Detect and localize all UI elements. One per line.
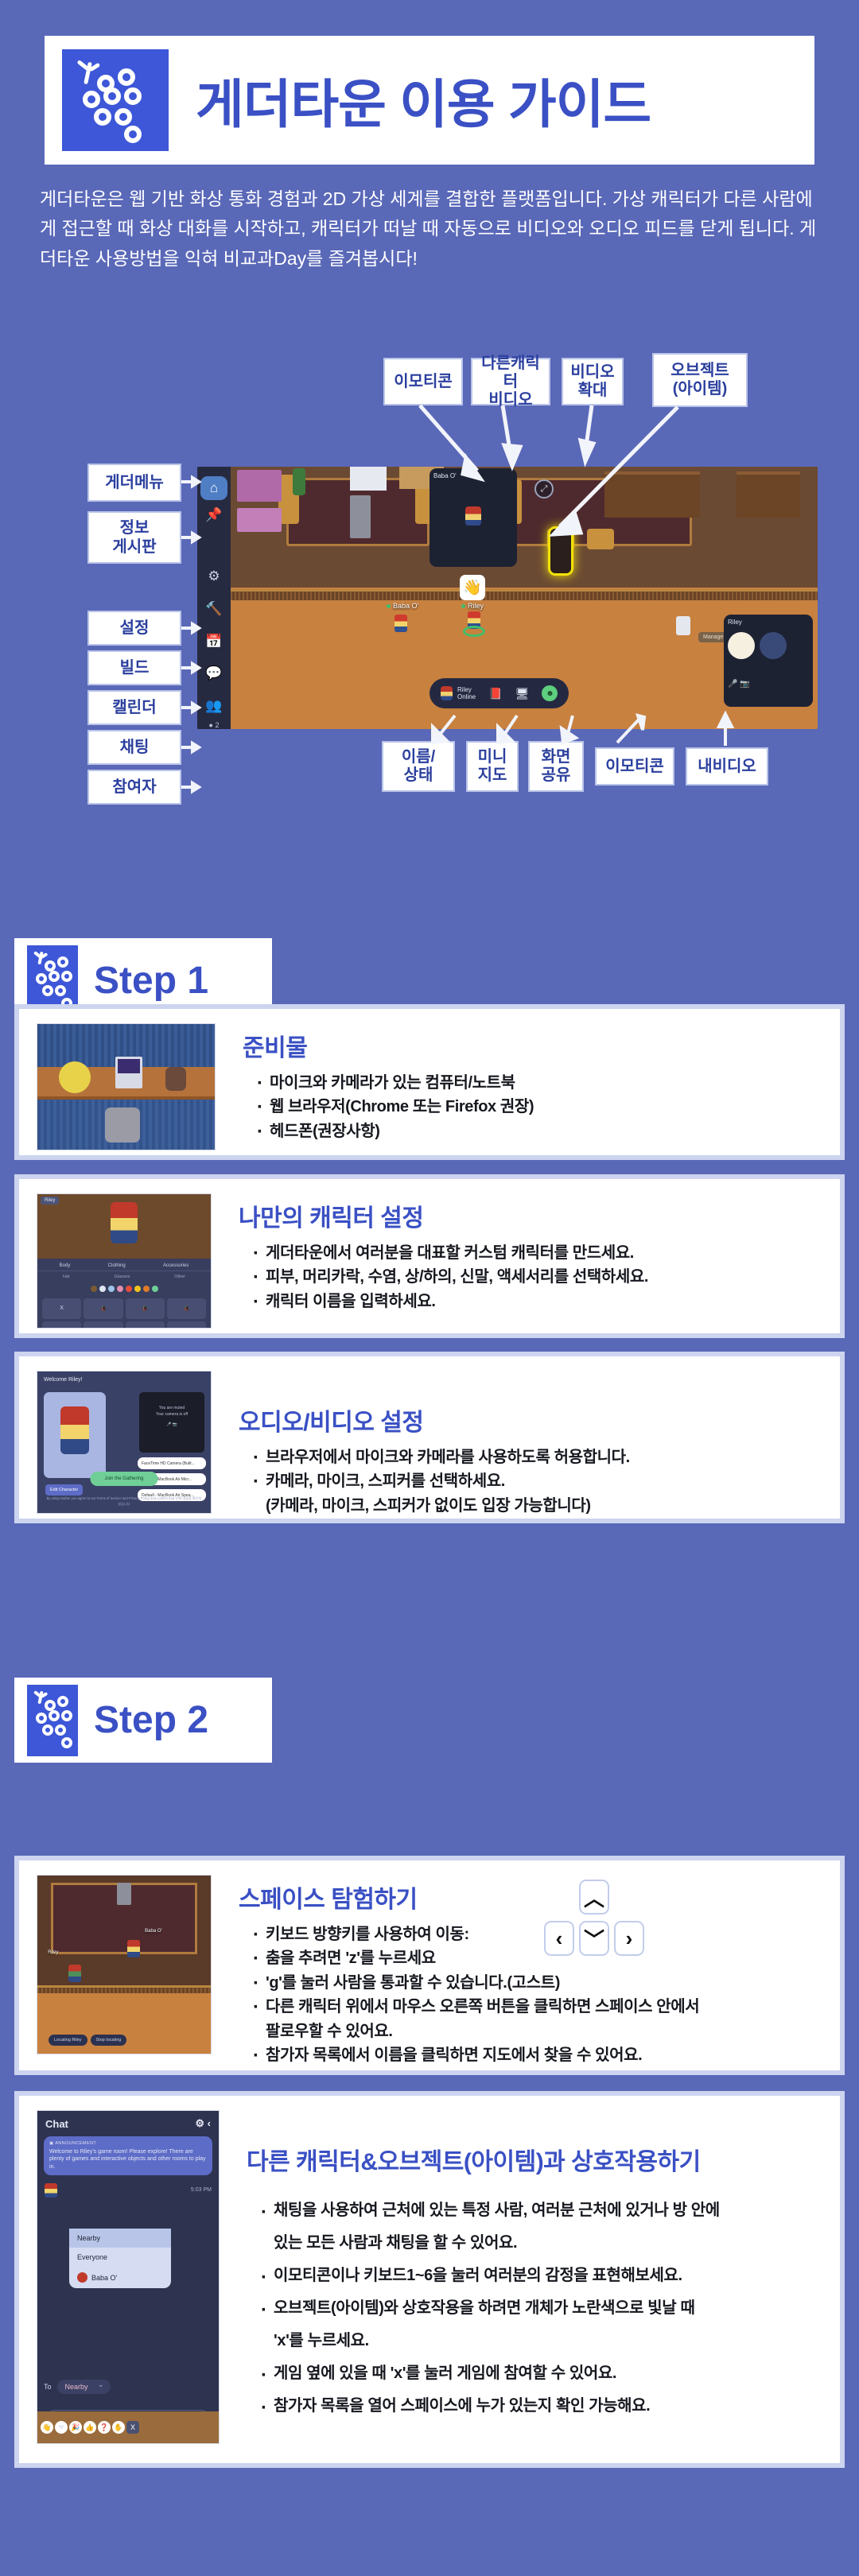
emoji-6[interactable]: ✋ <box>112 2421 125 2434</box>
editor-subtab[interactable]: Hat <box>63 1274 70 1279</box>
name-status-block[interactable]: RileyOnline <box>441 686 476 700</box>
to-label: To <box>44 2383 52 2391</box>
arrow-minimap <box>495 716 527 747</box>
room-background: Manage or upgrade Space Baba O' ⤢ 👋 Baba… <box>231 467 818 729</box>
chat-message-row: 5:03 PM <box>37 2178 219 2198</box>
arrow-up-key[interactable]: ︿ <box>579 1880 609 1915</box>
calculator-object <box>676 616 690 635</box>
person-avatar <box>77 2272 87 2283</box>
emoji-5[interactable]: ❓ <box>98 2421 111 2434</box>
arrow-other-character-video <box>499 405 531 472</box>
emoji-quickbar[interactable]: 👋 ❤ 🎉 👍 ❓ ✋ X <box>37 2411 219 2443</box>
chat-panel-header: Chat ⚙ ‹ <box>37 2111 219 2133</box>
whiteboard <box>350 467 387 491</box>
editor-subtabs[interactable]: Hat Glasses Other <box>37 1271 211 1282</box>
bullet-list-interaction: 채팅을 사용하여 근처에 있는 특정 사람, 여러분 근처에 있거나 방 안에 … <box>247 2194 822 2423</box>
editor-avatar-name: Riley <box>41 1197 59 1205</box>
bullet-item: 마이크와 카메라가 있는 컴퓨터/노트북 <box>257 1071 822 1095</box>
locate-buttons[interactable]: Locating Riley Stop locating <box>49 2035 126 2046</box>
grid-item[interactable]: 🎩 <box>167 1298 206 1319</box>
chat-panel-illustration: Chat ⚙ ‹ ▣ ANNOUNCEMENT Welcome to Riley… <box>37 2111 219 2443</box>
railing <box>231 589 818 600</box>
message-avatar <box>45 2183 57 2198</box>
bullet-item: 이모티콘이나 키보드1~6을 눌러 여러분의 감정을 표현해보세요. <box>261 2260 822 2292</box>
grid-item[interactable]: 🎩 <box>84 1298 122 1319</box>
av-camera-off-msg: Your camera is off <box>144 1411 200 1418</box>
self-highlight-ring <box>463 626 485 637</box>
minimap-icon[interactable]: 📕 <box>488 687 502 700</box>
callout-object-item: 오브젝트 (아이템) <box>652 353 748 407</box>
card-title-explore-space: 스페이스 탐험하기 <box>239 1880 822 1915</box>
other-character-sprite <box>395 615 407 632</box>
emoji-3[interactable]: 🎉 <box>69 2421 82 2434</box>
emoji-4[interactable]: 👍 <box>84 2421 96 2434</box>
bullet-item: 'x'를 누르세요. <box>261 2325 822 2357</box>
header-banner: 게더타운 이용 가이드 <box>45 36 814 165</box>
join-gathering-button[interactable]: Join the Gathering <box>90 1472 157 1486</box>
character-editor-illustration: Riley Body Clothing Accessories Hat Glas… <box>37 1194 211 1328</box>
self-player-nametag: Riley <box>461 602 484 610</box>
grid-item[interactable]: 🎩 <box>167 1321 206 1329</box>
bullet-item: 팔로우할 수 있어요. <box>253 2019 822 2043</box>
arrow-emoticon-bottom <box>614 716 649 751</box>
screen-share-icon[interactable]: 🖥 <box>515 687 530 700</box>
bullet-item: 'g'를 눌러 사람을 통과할 수 있습니다.(고스트) <box>253 1971 822 1995</box>
step-2-label: Step 2 <box>94 1698 208 1742</box>
arrow-chat <box>181 741 204 754</box>
bullet-item: 헤드폰(권장사항) <box>257 1119 822 1143</box>
editor-tab[interactable]: Clothing <box>108 1263 126 1268</box>
shelf-pink <box>237 470 282 502</box>
to-value[interactable]: Nearby <box>57 2380 111 2394</box>
card-title-preparation: 준비물 <box>243 1028 822 1063</box>
dropdown-option-nearby[interactable]: Nearby <box>69 2229 171 2248</box>
chat-settings-icon[interactable]: ⚙ <box>195 2117 204 2129</box>
calendar-icon[interactable]: 📅 <box>200 630 227 654</box>
callout-gather-menu: 게더메뉴 <box>87 464 181 502</box>
bullet-item: 키보드 방향키를 사용하여 이동: <box>253 1922 822 1946</box>
chat-title: Chat <box>45 2118 68 2130</box>
card-thumb-chat-panel: Chat ⚙ ‹ ▣ ANNOUNCEMENT Welcome to Riley… <box>37 2110 220 2444</box>
legal-text: By using Gather you agree to our Terms o… <box>45 1496 203 1507</box>
callout-my-video: 내비디오 <box>686 747 768 786</box>
chat-collapse-icon[interactable]: ‹ <box>208 2117 211 2129</box>
callout-settings: 설정 <box>87 611 181 646</box>
bullet-item: 있는 모든 사람과 채팅을 할 수 있어요. <box>261 2227 822 2260</box>
gather-logo-icon <box>62 49 169 151</box>
card-title-av-setup: 오디오/비디오 설정 <box>239 1402 822 1437</box>
grid-item[interactable]: 🎩 <box>126 1298 165 1319</box>
chat-icon[interactable]: 💬 <box>200 662 227 686</box>
arrow-my-video <box>717 714 737 749</box>
card-explore-space: Baba O' Riley Locating Riley Stop locati… <box>14 1856 845 2075</box>
edit-character-button[interactable]: Edit Character <box>45 1484 83 1496</box>
av-welcome-text: Welcome Riley! <box>37 1371 211 1386</box>
video-tile-avatar <box>465 506 481 526</box>
bullet-item: 게더타운에서 여러분을 대표할 커스텀 캐릭터를 만드세요. <box>253 1241 822 1265</box>
card-preparation: 준비물 마이크와 카메라가 있는 컴퓨터/노트북 웹 브라우저(Chrome 또… <box>14 1004 845 1160</box>
callout-calendar: 캘린더 <box>87 690 181 725</box>
stop-locating-button[interactable]: Stop locating <box>91 2035 127 2046</box>
intro-paragraph: 게더타운은 웹 기반 화상 통화 경험과 2D 가상 세계를 결합한 플랫폼입니… <box>40 184 827 274</box>
callout-build: 빌드 <box>87 650 181 685</box>
room-scene-illustration: Baba O' Riley Locating Riley Stop locati… <box>37 1876 211 2054</box>
card-thumb-av-setup: Welcome Riley! You are muted Your camera… <box>37 1371 212 1514</box>
grid-item[interactable]: 🎩 <box>42 1321 81 1329</box>
bullet-item: 카메라, 마이크, 스피커를 선택하세요. <box>253 1469 822 1493</box>
bullet-list-character-setup: 게더타운에서 여러분을 대표할 커스텀 캐릭터를 만드세요. 피부, 머리카락,… <box>239 1241 822 1313</box>
grid-item[interactable]: 🎩 <box>84 1321 122 1329</box>
announcement-label: ▣ ANNOUNCEMENT <box>49 2141 207 2147</box>
arrow-emoticon-top <box>402 405 498 501</box>
announcement-bubble: ▣ ANNOUNCEMENT Welcome to Riley's game r… <box>44 2136 212 2175</box>
bullet-item: (카메라, 마이크, 스피커가 없이도 입장 가능합니다) <box>253 1494 822 1518</box>
home-icon[interactable]: ⌂ <box>200 476 227 500</box>
bullet-item: 참가자 목록에서 이름을 클릭하면 지도에서 찾을 수 있어요. <box>253 2043 822 2067</box>
av-camera-preview: You are muted Your camera is off 🎤 📷 <box>139 1392 204 1453</box>
arrow-participants <box>181 781 204 793</box>
desk-scene-illustration <box>37 1024 215 1150</box>
arrow-info-board <box>181 531 204 544</box>
gather-app-screenshot: Manage or upgrade Space Baba O' ⤢ 👋 Baba… <box>197 467 818 729</box>
card-character-setup: Riley Body Clothing Accessories Hat Glas… <box>14 1174 845 1338</box>
callout-chat: 채팅 <box>87 730 181 765</box>
callout-screen-share: 화면 공유 <box>528 741 584 792</box>
av-setup-illustration: Welcome Riley! You are muted Your camera… <box>37 1371 211 1513</box>
arrow-name-status <box>429 716 461 747</box>
card-interaction: Chat ⚙ ‹ ▣ ANNOUNCEMENT Welcome to Riley… <box>14 2091 845 2468</box>
bullet-item: 채팅을 사용하여 근처에 있는 특정 사람, 여러분 근처에 있거나 방 안에 <box>261 2194 822 2227</box>
dropdown-option-person[interactable]: Baba O' <box>69 2267 171 2288</box>
callout-other-character-video: 다른캐릭터 비디오 <box>471 358 550 405</box>
pin-icon[interactable]: 📌 <box>200 503 227 527</box>
room-name-self: Riley <box>48 1950 58 1955</box>
callout-participants: 참여자 <box>87 770 181 805</box>
gather-left-sidebar[interactable]: ⌂ 📌 ⚙ 🔨 📅 💬 👥 ● 2 <box>197 467 231 729</box>
shelf-pink-2 <box>237 508 282 532</box>
hammer-icon[interactable]: 🔨 <box>200 597 227 621</box>
arrow-build <box>181 661 204 674</box>
message-timestamp: 5:03 PM <box>191 2187 212 2193</box>
card-title-interaction: 다른 캐릭터&오브젝트(아이템)과 상호작용하기 <box>247 2142 822 2177</box>
arrow-gather-menu <box>181 475 204 488</box>
bullet-list-av-setup: 브라우저에서 마이크와 카메라를 사용하도록 허용합니다. 카메라, 마이크, … <box>239 1445 822 1518</box>
bullet-list-preparation: 마이크와 카메라가 있는 컴퓨터/노트북 웹 브라우저(Chrome 또는 Fi… <box>243 1071 822 1143</box>
av-muted-msg: You are muted <box>144 1405 200 1411</box>
step-2-header: Step 2 <box>14 1678 272 1763</box>
my-video-name: Riley <box>728 619 809 626</box>
av-avatar-preview <box>44 1392 106 1478</box>
bullet-item: 게임 옆에 있을 때 'x'를 눌러 게임에 참여할 수 있어요. <box>261 2357 822 2390</box>
my-video-tile[interactable]: Riley 🎤 📷 <box>724 615 813 707</box>
callout-emoticon-top: 이모티콘 <box>383 358 463 405</box>
card-av-setup: Welcome Riley! You are muted Your camera… <box>14 1352 845 1523</box>
announcement-text: Welcome to Riley's game room! Please exp… <box>49 2149 206 2169</box>
arrow-screen-share <box>558 716 590 747</box>
item-grid[interactable]: X 🎩 🎩 🎩 🎩 🎩 🎩 🎩 <box>37 1295 211 1329</box>
emote-popup-icon: 👋 <box>460 575 485 600</box>
bullet-item: 다른 캐릭터 위에서 마우스 오른쪽 버튼을 클릭하면 스페이스 안에서 <box>253 1995 822 2019</box>
dropdown-option-everyone[interactable]: Everyone <box>69 2248 171 2267</box>
arrow-settings <box>181 622 204 634</box>
editor-tab[interactable]: Accessories <box>163 1263 189 1268</box>
emoji-clear[interactable]: X <box>126 2421 139 2434</box>
bullet-item: 브라우저에서 마이크와 카메라를 사용하도록 허용합니다. <box>253 1445 822 1469</box>
bottom-toolbar[interactable]: RileyOnline 📕 🖥 ☻ <box>429 678 569 708</box>
grid-item-none[interactable]: X <box>42 1298 81 1319</box>
toolbar-self-status: Online <box>457 693 476 700</box>
callout-name-status: 이름/ 상태 <box>382 741 455 792</box>
grid-item[interactable]: 🎩 <box>126 1321 165 1329</box>
editor-tab[interactable]: Body <box>60 1263 71 1268</box>
bullet-item: 피부, 머리카락, 수염, 상/하의, 신말, 액세서리를 선택하세요. <box>253 1265 822 1289</box>
editor-tabs[interactable]: Body Clothing Accessories <box>37 1259 211 1271</box>
bookshelf-2 <box>737 471 800 518</box>
bullet-item: 오브젝트(아이템)와 상호작용을 하려면 개체가 노란색으로 빛날 때 <box>261 2292 822 2325</box>
locating-label: Locating Riley <box>49 2035 87 2046</box>
annotated-screenshot-diagram: Manage or upgrade Space Baba O' ⤢ 👋 Baba… <box>0 318 859 787</box>
arrow-object-item <box>542 407 686 542</box>
emoji-2[interactable]: ❤ <box>55 2421 68 2434</box>
emote-icon[interactable]: ☻ <box>542 685 558 701</box>
card-title-character-setup: 나만의 캐릭터 설정 <box>239 1198 822 1233</box>
bullet-item: 캐릭터 이름을 입력하세요. <box>253 1290 822 1313</box>
color-swatches[interactable] <box>37 1282 211 1295</box>
other-player-nametag: Baba O' <box>387 602 418 610</box>
bullet-item: 참가자 목록을 열어 스페이스에 누가 있는지 확인 가능해요. <box>261 2390 822 2423</box>
participant-count: ● 2 <box>209 721 220 729</box>
editor-subtab[interactable]: Other <box>174 1274 185 1279</box>
plant <box>293 468 305 495</box>
gather-logo-icon-step2 <box>27 1685 78 1756</box>
bullet-item: 웹 브라우저(Chrome 또는 Firefox 권장) <box>257 1095 822 1119</box>
camera-select[interactable]: FaceTime HD Camera (Built... <box>138 1457 206 1469</box>
toolbar-self-name: Riley <box>457 686 476 693</box>
page-title: 게더타운 이용 가이드 <box>196 62 651 138</box>
callout-video-expand: 비디오 확대 <box>562 358 624 405</box>
gear-icon[interactable]: ⚙ <box>200 564 227 588</box>
emoji-1[interactable]: 👋 <box>41 2421 53 2434</box>
editor-subtab[interactable]: Glasses <box>114 1274 130 1279</box>
callout-emoticon-bottom: 이모티콘 <box>595 747 674 786</box>
card-thumb-desk <box>37 1023 216 1150</box>
door-object <box>350 495 371 538</box>
card-thumb-character-editor: Riley Body Clothing Accessories Hat Glas… <box>37 1193 212 1329</box>
step-1-label: Step 1 <box>94 959 208 1003</box>
bullet-item: 춤을 추려면 'z'를 누르세요 <box>253 1946 822 1970</box>
arrow-calendar <box>181 701 204 714</box>
card-thumb-room: Baba O' Riley Locating Riley Stop locati… <box>37 1875 212 2054</box>
callout-minimap: 미니 지도 <box>466 741 519 792</box>
people-icon[interactable]: 👥 <box>200 694 227 718</box>
room-name-other: Baba O' <box>145 1929 162 1934</box>
bullet-list-explore-space: 키보드 방향키를 사용하여 이동: 춤을 추려면 'z'를 누르세요 'g'를 … <box>239 1922 822 2067</box>
recipient-dropdown[interactable]: Nearby Everyone Baba O' <box>69 2229 171 2288</box>
chat-to-row[interactable]: To Nearby <box>44 2380 111 2394</box>
callout-info-board: 정보 게시판 <box>87 511 181 564</box>
